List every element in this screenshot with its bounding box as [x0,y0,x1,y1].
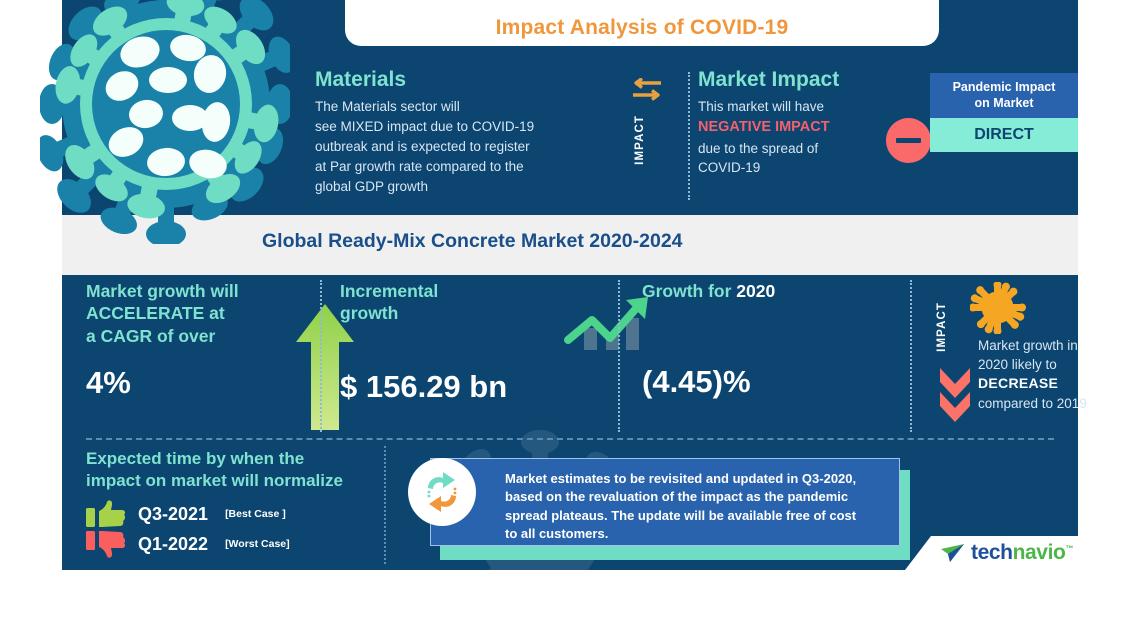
cagr-value: 4% [86,365,316,401]
market-name: Global Ready-Mix Concrete Market 2020-20… [262,230,683,253]
technavio-name-part2: navio [1013,541,1066,564]
pandemic-impact-badge: Pandemic Impact on Market DIRECT [930,73,1078,152]
divider-stat-2 [618,280,620,432]
normalize-worst-case: [Worst Case] [225,538,290,550]
technavio-logo[interactable]: technavio™ [940,541,1073,565]
impact-label-top: IMPACT [634,115,646,165]
market-impact-line-2: due to the spread of [698,139,913,159]
technavio-name-part1: tech [971,541,1013,564]
callout-line-1: Market estimates to be revisited and upd… [505,471,856,486]
materials-block: Materials The Materials sector will see … [315,68,625,197]
refresh-cycle-icon [408,458,476,526]
cagr-label-line-1: Market growth will [86,280,316,302]
normalize-heading: Expected time by when the impact on mark… [86,448,416,492]
market-impact-line-1: This market will have [698,97,913,117]
normalize-best-quarter: Q3-2021 [138,504,208,525]
market-impact-line-3: COVID-19 [698,158,913,178]
normalize-best-row: Q3-2021 [Best Case ] [86,500,416,528]
growth2020-label: Growth for 2020 [642,280,872,302]
normalize-heading-line-2: impact on market will normalize [86,470,416,492]
normalize-best-case: [Best Case ] [225,508,286,520]
callout-line-2: based on the revaluation of the impact a… [505,489,848,504]
incremental-value: $ 156.29 bn [340,369,600,405]
growth2020-label-prefix: Growth for [642,281,736,301]
callout-text: Market estimates to be revisited and upd… [431,459,899,544]
thumbs-up-icon [86,500,126,528]
thumbs-down-icon [86,530,126,558]
materials-body-line-5: global GDP growth [315,177,625,197]
market-impact-heading: Market Impact [698,68,913,91]
impact-right-text: Market growth in 2020 likely to DECREASE… [978,336,1138,413]
incremental-label: Incremental growth [340,280,600,325]
market-impact-block: Market Impact This market will have NEGA… [698,68,913,178]
coronavirus-illustration [40,0,290,244]
stat-incremental: Incremental growth $ 156.29 bn [340,280,600,405]
impact-right-line-2: 2020 likely to [978,355,1138,374]
bottom-divider [86,438,1054,440]
materials-body-line-3: outbreak and is expected to register [315,137,625,157]
divider-stat-1 [320,280,322,432]
stat-cagr: Market growth will ACCELERATE at a CAGR … [86,280,316,401]
normalize-worst-quarter: Q1-2022 [138,534,208,555]
incremental-label-line-2: growth [340,302,600,324]
impact-right-line-3: compared to 2019 [978,394,1138,413]
callout-line-3: spread plateaus. The update will be avai… [505,508,856,523]
technavio-wordmark: technavio™ [971,541,1073,565]
market-impact-emphasis: NEGATIVE IMPACT [698,117,913,138]
materials-body-line-2: see MIXED impact due to COVID-19 [315,117,625,137]
impact-right-emphasis: DECREASE [978,375,1058,391]
impact-label-right: IMPACT [936,302,948,352]
impact-right-column: IMPACT [936,280,1140,432]
divider-stat-3 [910,280,912,432]
materials-heading: Materials [315,68,625,91]
impact-strip-top: IMPACT [630,78,664,198]
technavio-arrow-icon [940,542,966,564]
pandemic-badge-title: Pandemic Impact on Market [930,73,1078,118]
impact-right-line-1: Market growth in [978,336,1138,355]
materials-body: The Materials sector will see MIXED impa… [315,97,625,197]
two-way-arrows-icon [630,78,664,104]
materials-body-line-1: The Materials sector will [315,97,625,117]
normalize-worst-row: Q1-2022 [Worst Case] [86,530,416,558]
normalize-block: Expected time by when the impact on mark… [86,448,416,558]
page-title: Impact Analysis of COVID-19 [496,16,789,40]
callout-line-4: to all customers. [505,526,608,541]
growth2020-label-year: 2020 [736,281,775,301]
incremental-label-line-1: Incremental [340,280,600,302]
title-banner: Impact Analysis of COVID-19 [345,0,939,46]
minus-circle-icon [886,118,931,163]
materials-body-line-4: at Par growth rate compared to the [315,157,625,177]
infographic-root: Impact Analysis of COVID-19 Materials Th… [0,0,1140,570]
cagr-label-line-3: a CAGR of over [86,325,316,347]
technavio-trademark: ™ [1065,544,1073,553]
cagr-label-line-2: ACCELERATE at [86,302,316,324]
divider-top-1 [688,72,690,200]
stat-growth-2020: Growth for 2020 (4.45)% [642,280,872,400]
callout-box: Market estimates to be revisited and upd… [430,458,900,546]
virus-icon [970,282,1028,334]
double-chevron-down-icon [938,366,972,422]
stats-row: Market growth will ACCELERATE at a CAGR … [62,280,1078,432]
normalize-heading-line-1: Expected time by when the [86,448,416,470]
growth2020-value: (4.45)% [642,364,872,400]
pandemic-badge-title-line-2: on Market [934,96,1074,112]
cagr-label: Market growth will ACCELERATE at a CAGR … [86,280,316,347]
pandemic-badge-value: DIRECT [930,118,1078,152]
market-impact-body: This market will have NEGATIVE IMPACT du… [698,97,913,178]
pandemic-badge-title-line-1: Pandemic Impact [934,80,1074,96]
